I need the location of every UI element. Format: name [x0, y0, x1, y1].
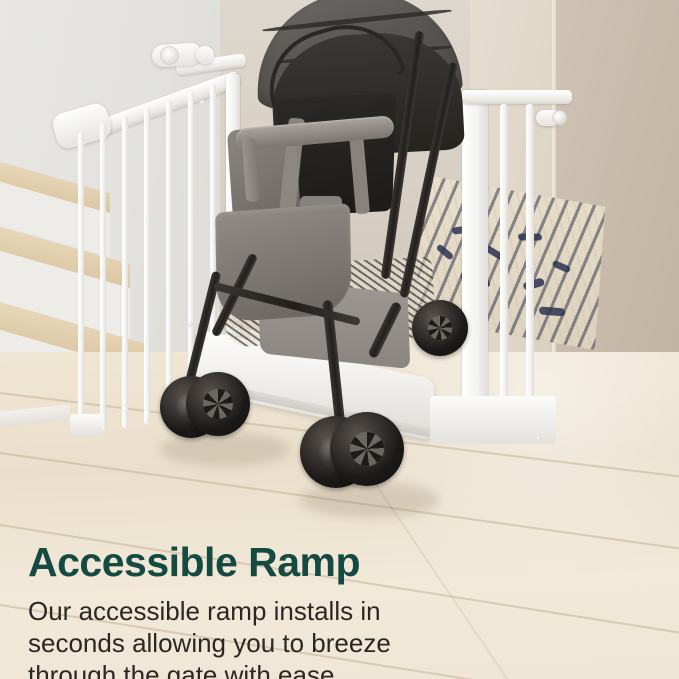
caption-body: Our accessible ramp installs in seconds …: [28, 595, 391, 679]
gate-extension-bar: [500, 104, 508, 434]
stroller-wheel-hub: [428, 316, 452, 340]
gate-screw: [188, 322, 193, 327]
gate-extension-knob-dial: [552, 110, 567, 125]
gate-latch-collar: [196, 46, 214, 64]
gate-latch-dial: [160, 46, 179, 65]
gate-bar: [100, 124, 106, 430]
product-lifestyle-image: Accessible Ramp Our accessible ramp inst…: [0, 0, 679, 679]
gate-screw: [536, 436, 541, 441]
gate-extension-post: [462, 90, 488, 440]
caption-body-line: through the gate with ease: [28, 659, 391, 679]
gate-extension-top-rail: [462, 90, 572, 104]
gate-bar: [122, 116, 128, 428]
stroller-wheel-hub: [350, 432, 384, 466]
gate-bar: [144, 108, 150, 424]
caption-body-line: Our accessible ramp installs in: [28, 595, 391, 627]
gate-base-bar: [70, 414, 102, 436]
gate-extension-bar: [526, 104, 534, 434]
caption-heading: Accessible Ramp: [28, 539, 360, 586]
gate-screw: [200, 100, 205, 105]
stroller-floor-shadow: [300, 482, 440, 518]
gate-bar: [166, 100, 172, 420]
stroller-floor-shadow: [160, 432, 290, 466]
caption-block: Accessible Ramp Our accessible ramp inst…: [0, 539, 679, 679]
gate-bar: [78, 132, 84, 432]
caption-body-line: seconds allowing you to breeze: [28, 627, 391, 659]
stroller-wheel-hub: [203, 389, 233, 419]
